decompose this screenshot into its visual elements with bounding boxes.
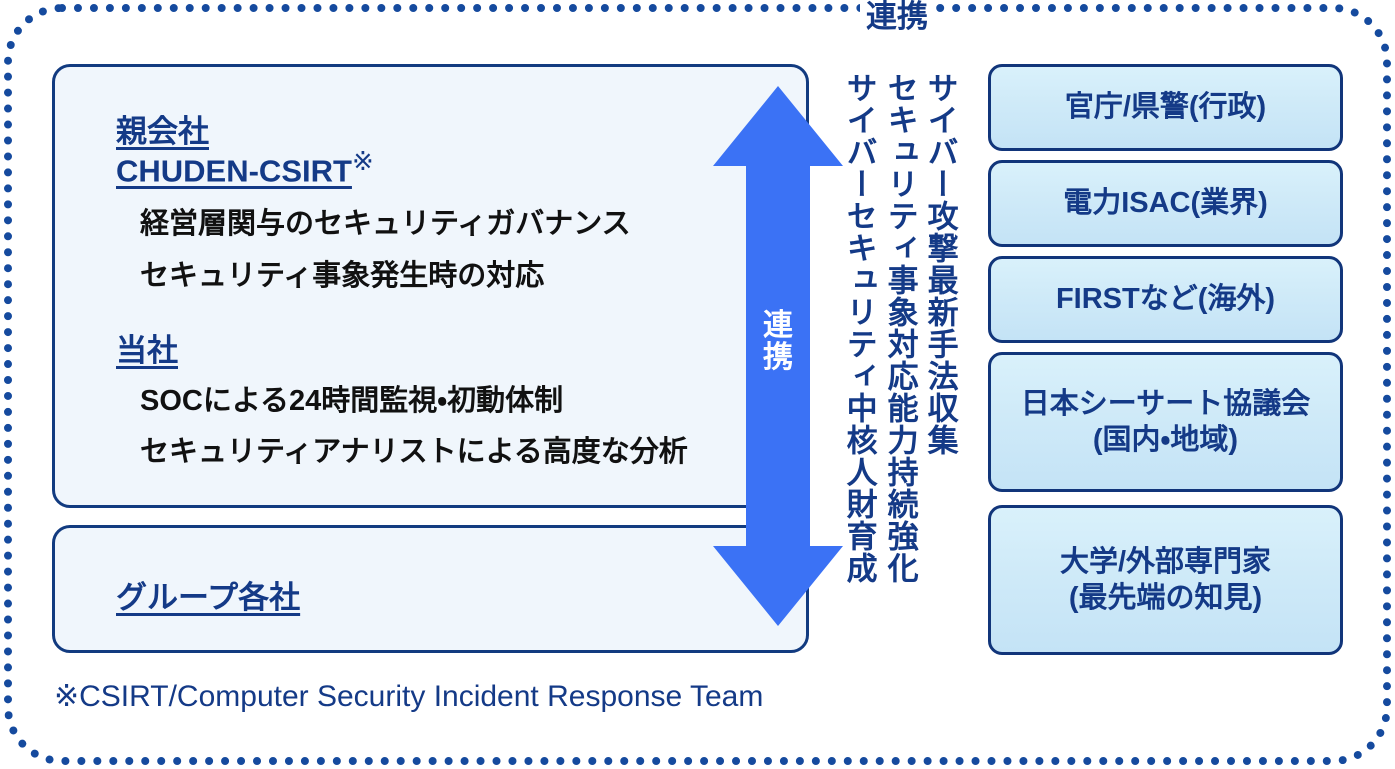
partner-line2: (最先端の知見) [1060, 580, 1271, 616]
partner-line2: (国内・地域) [1021, 422, 1310, 458]
vertical-column-left: サイバーセキュリティ中核人財育成 [840, 72, 877, 584]
partner-box-university-experts-text: 大学/外部専門家 (最先端の知見) [1060, 544, 1271, 617]
ours-bullet-2: セキュリティアナリストによる高度な分析 [140, 428, 688, 470]
vertical-column-right: サイバー攻撃最新手法収集 [921, 72, 958, 456]
heading-parent-company: 親会社 [116, 106, 209, 151]
partner-box-university-experts[interactable]: 大学/外部専門家 (最先端の知見) [988, 505, 1343, 655]
partner-box-electric-isac-text: 電力ISAC(業界) [1063, 185, 1268, 221]
heading-chuden-csirt: CHUDEN-CSIRT※ [116, 146, 374, 189]
partner-box-electric-isac[interactable]: 電力ISAC(業界) [988, 160, 1343, 247]
partner-box-government-text: 官庁/県警(行政) [1065, 89, 1266, 125]
arrow-label-renkei: 連携 [755, 310, 801, 375]
partner-box-nca-japan-text: 日本シーサート協議会 (国内・地域) [1021, 386, 1310, 459]
partner-line1: FIRSTなど(海外) [1056, 283, 1275, 315]
top-label-renkei: 連携 [860, 0, 934, 34]
parent-bullet-1: 経営層関与のセキュリティガバナンス [140, 200, 631, 242]
footnote-csirt-definition: ※CSIRT/Computer Security Incident Respon… [54, 679, 763, 714]
vertical-column-middle: セキュリティ事象対応能力持続強化 [881, 72, 918, 584]
heading-our-company: 当社 [116, 325, 178, 370]
footnote-marker-icon: ※ [352, 146, 374, 177]
partner-line1: 日本シーサート協議会 [1021, 388, 1310, 420]
partner-box-government[interactable]: 官庁/県警(行政) [988, 64, 1343, 151]
heading-group-companies: グループ各社 [116, 572, 300, 617]
ours-bullet-1: SOCによる24時間監視・初動体制 [140, 377, 563, 419]
diagram-canvas: 親会社 CHUDEN-CSIRT※ 経営層関与のセキュリティガバナンス セキュリ… [0, 0, 1395, 769]
parent-bullet-2: セキュリティ事象発生時の対応 [140, 252, 544, 294]
partner-line1: 官庁/県警(行政) [1065, 91, 1266, 123]
partner-box-first-overseas-text: FIRSTなど(海外) [1056, 281, 1275, 317]
heading-chuden-csirt-text: CHUDEN-CSIRT [116, 153, 352, 188]
partner-box-nca-japan[interactable]: 日本シーサート協議会 (国内・地域) [988, 352, 1343, 492]
partner-line1: 電力ISAC(業界) [1063, 187, 1268, 219]
partner-line1: 大学/外部専門家 [1060, 546, 1271, 578]
partner-box-first-overseas[interactable]: FIRSTなど(海外) [988, 256, 1343, 343]
